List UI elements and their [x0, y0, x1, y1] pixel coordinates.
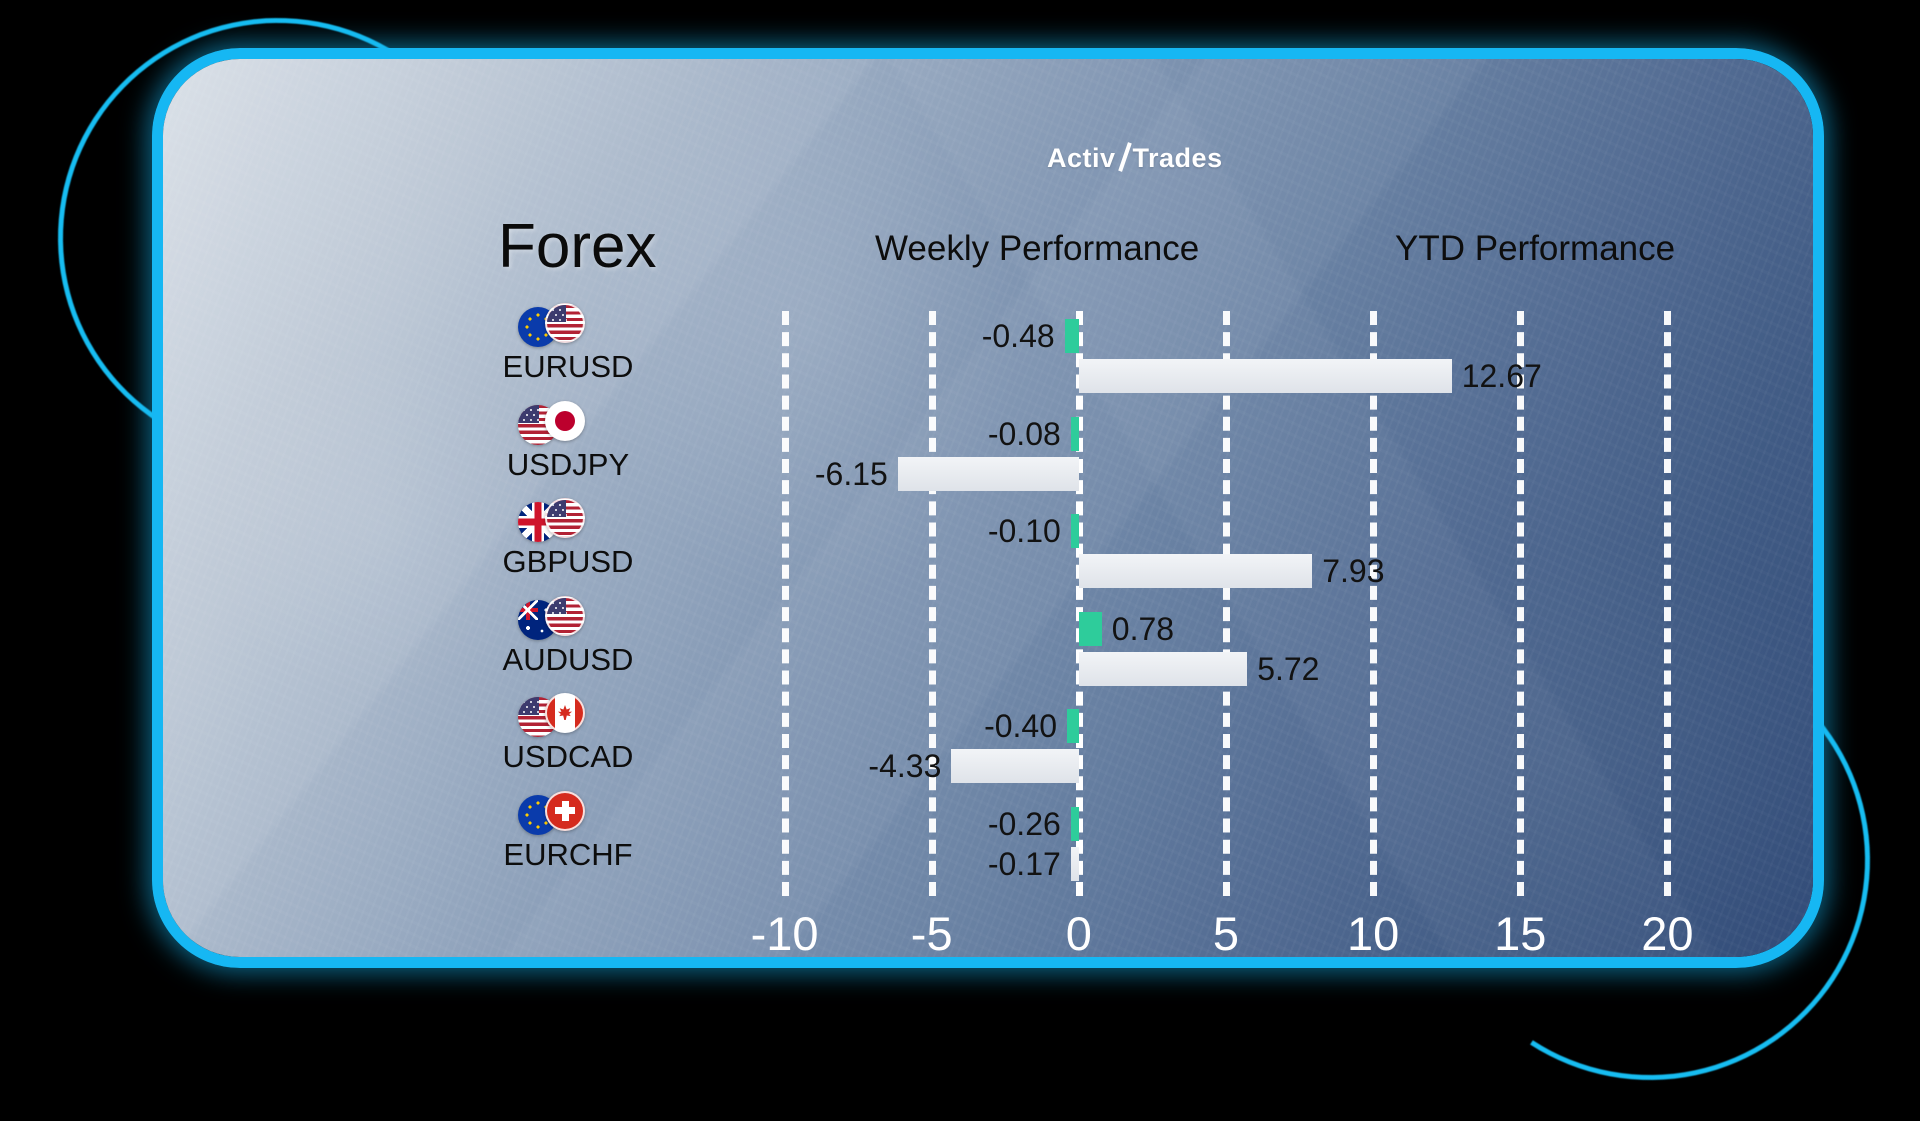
chart-row: -0.40-4.33 [711, 701, 1741, 799]
plot-area: -0.4812.67-0.08-6.15-0.107.930.785.72-0.… [711, 311, 1741, 896]
chart-row: -0.08-6.15 [711, 409, 1741, 507]
screenshot-root: ActivTrades Forex Weekly Performance YTD… [0, 0, 1920, 1080]
x-tick-label-15: 15 [1494, 904, 1546, 964]
value-label-ytd-usdcad: -4.33 [868, 749, 941, 783]
us-flag-icon [545, 498, 585, 538]
logo-text-activ: Activ [1047, 143, 1116, 173]
x-axis-ticks: -10-505101520 [711, 904, 1741, 964]
jp-flag-icon [545, 401, 585, 441]
bar-ytd-gbpusd[interactable] [1079, 554, 1312, 588]
category-audusd[interactable]: AUDUSD [438, 596, 698, 678]
white-circle-icon [1313, 219, 1373, 279]
activtrades-logo: ActivTrades [1047, 143, 1223, 174]
value-label-weekly-usdjpy: -0.08 [988, 417, 1061, 451]
green-circle-icon [793, 219, 853, 279]
value-label-weekly-gbpusd: -0.10 [988, 514, 1061, 548]
flag-pair [438, 791, 698, 835]
flag-pair [438, 303, 698, 347]
bar-weekly-gbpusd[interactable] [1071, 514, 1079, 548]
ch-flag-icon [545, 791, 585, 831]
bar-ytd-usdcad[interactable] [951, 749, 1078, 783]
value-label-weekly-eurchf: -0.26 [988, 807, 1061, 841]
bar-ytd-audusd[interactable] [1079, 652, 1247, 686]
us-flag-icon [545, 303, 585, 343]
logo-text-trades: Trades [1133, 143, 1223, 173]
legend-label-ytd: YTD Performance [1395, 229, 1675, 269]
flag-pair [438, 693, 698, 737]
page-title: Forex [498, 211, 656, 282]
category-label: USDJPY [438, 447, 698, 483]
chart-row: -0.107.93 [711, 506, 1741, 604]
value-label-ytd-gbpusd: 7.93 [1322, 554, 1384, 588]
chart-row: -0.4812.67 [711, 311, 1741, 409]
x-tick-label-0: 0 [1066, 904, 1092, 964]
us-flag-icon [545, 596, 585, 636]
bar-weekly-audusd[interactable] [1079, 612, 1102, 646]
category-label: GBPUSD [438, 544, 698, 580]
bar-ytd-eurchf[interactable] [1071, 847, 1079, 881]
category-usdcad[interactable]: USDCAD [438, 693, 698, 775]
category-label: EURCHF [438, 837, 698, 873]
flag-pair [438, 401, 698, 445]
bar-weekly-eurchf[interactable] [1071, 807, 1079, 841]
bar-ytd-eurusd[interactable] [1079, 359, 1452, 393]
x-tick-label-5: 5 [1213, 904, 1239, 964]
bar-ytd-usdjpy[interactable] [898, 457, 1079, 491]
legend-item-ytd[interactable]: YTD Performance [1313, 219, 1675, 279]
bar-weekly-eurusd[interactable] [1065, 319, 1079, 353]
logo-check-icon [1116, 144, 1133, 171]
category-eurusd[interactable]: EURUSD [438, 303, 698, 385]
bar-weekly-usdjpy[interactable] [1071, 417, 1079, 451]
category-eurchf[interactable]: EURCHF [438, 791, 698, 873]
category-label: AUDUSD [438, 642, 698, 678]
value-label-weekly-eurusd: -0.48 [982, 319, 1055, 353]
value-label-ytd-eurchf: -0.17 [988, 847, 1061, 881]
x-tick-label--5: -5 [911, 904, 953, 964]
category-usdjpy[interactable]: USDJPY [438, 401, 698, 483]
chart-panel: ActivTrades Forex Weekly Performance YTD… [152, 48, 1824, 968]
chart-row: 0.785.72 [711, 604, 1741, 702]
category-label: USDCAD [438, 739, 698, 775]
value-label-weekly-audusd: 0.78 [1112, 612, 1174, 646]
value-label-ytd-usdjpy: -6.15 [815, 457, 888, 491]
x-tick-label-20: 20 [1641, 904, 1693, 964]
value-label-weekly-usdcad: -0.40 [984, 709, 1057, 743]
category-label: EURUSD [438, 349, 698, 385]
x-tick-label--10: -10 [751, 904, 819, 964]
x-tick-label-10: 10 [1347, 904, 1399, 964]
flag-pair [438, 596, 698, 640]
flag-pair [438, 498, 698, 542]
value-label-ytd-audusd: 5.72 [1257, 652, 1319, 686]
value-label-ytd-eurusd: 12.67 [1462, 359, 1542, 393]
legend-label-weekly: Weekly Performance [875, 229, 1199, 269]
bar-weekly-usdcad[interactable] [1067, 709, 1079, 743]
ca-flag-icon [545, 693, 585, 733]
x-axis-title: % Performance [163, 959, 1813, 968]
category-gbpusd[interactable]: GBPUSD [438, 498, 698, 580]
chart-row: -0.26-0.17 [711, 799, 1741, 897]
legend-item-weekly[interactable]: Weekly Performance [793, 219, 1199, 279]
panel-content: ActivTrades Forex Weekly Performance YTD… [163, 59, 1813, 957]
